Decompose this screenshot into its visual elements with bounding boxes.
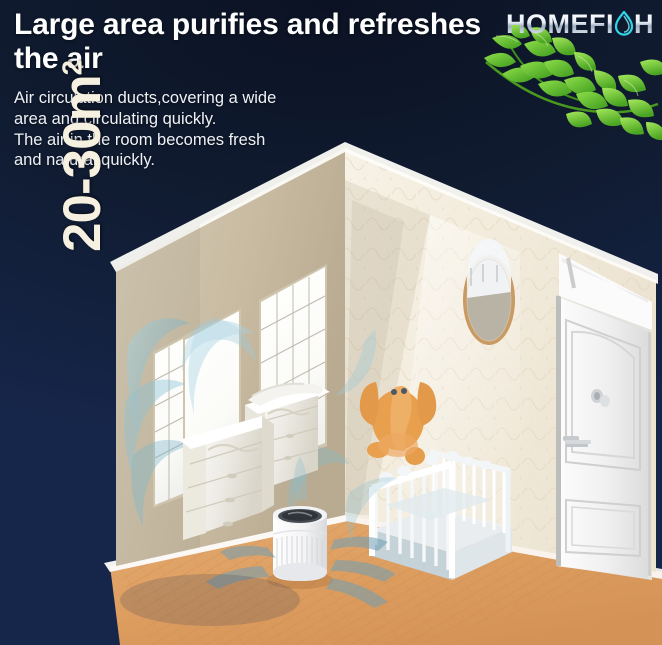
coverage-area-unit-exponent: 2: [56, 61, 87, 75]
brand-logo-text-right: H: [634, 11, 654, 38]
floor-light-pool: [120, 574, 300, 626]
fish-droplet-icon: [613, 11, 635, 38]
potted-vine: [478, 22, 662, 222]
air-purifier: [267, 506, 333, 589]
brand-logo: HOMEFI H: [506, 11, 654, 38]
coverage-area-value: 20-30m: [53, 75, 112, 252]
coverage-area-badge: 20-30m2: [52, 2, 113, 252]
brand-logo-text-left: HOMEFI: [506, 11, 614, 38]
product-poster: Large area purifies and refreshes the ai…: [0, 0, 662, 645]
door[interactable]: [556, 253, 652, 580]
